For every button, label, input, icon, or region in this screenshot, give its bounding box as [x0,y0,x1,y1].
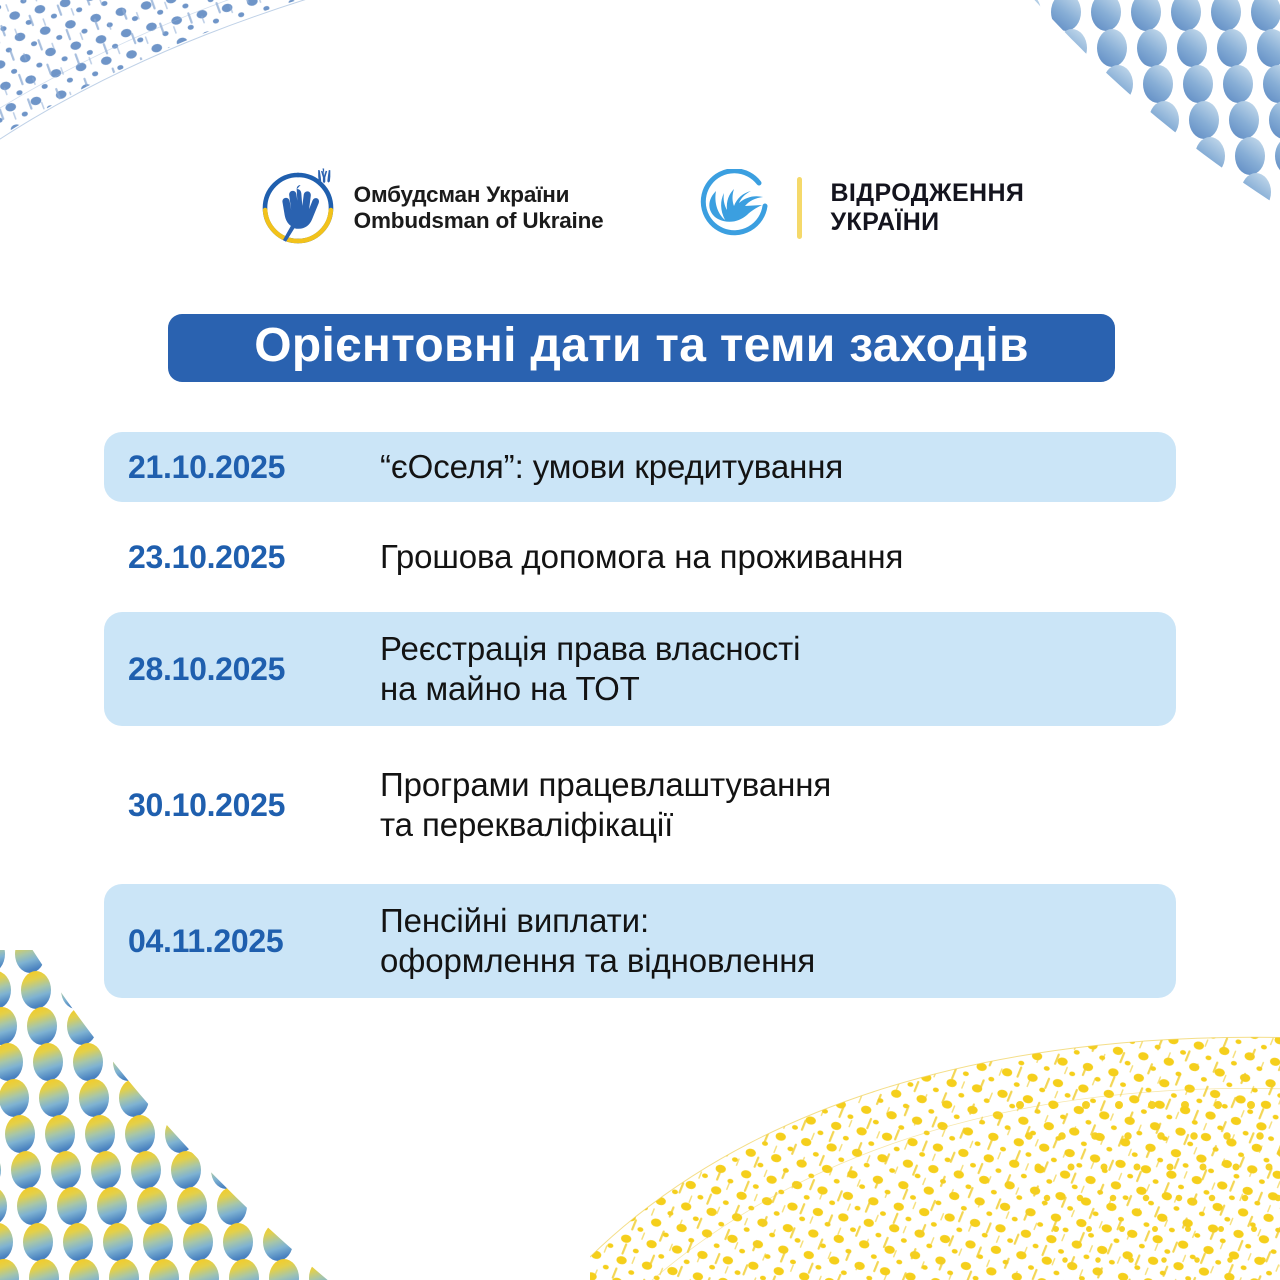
schedule-topic-4: Програми працевлаштування та перекваліфі… [380,765,1176,846]
schedule-date-5: 04.11.2025 [128,923,380,960]
schedule-date-1: 21.10.2025 [128,449,380,486]
logo-bar: Омбудсман України Ombudsman of Ukraine В… [0,160,1280,256]
row-spacer [104,862,1176,884]
schedule-topic-1: “єОселя”: умови кредитування [380,447,1176,487]
schedule-list: 21.10.2025 “єОселя”: умови кредитування … [104,432,1176,998]
ombudsman-logo-text: Омбудсман України Ombudsman of Ukraine [354,182,604,235]
row-spacer [104,726,1176,748]
schedule-row-3: 28.10.2025 Реєстрація права власності на… [104,612,1176,726]
schedule-row-4: 30.10.2025 Програми працевлаштування та … [104,748,1176,862]
page-title: Орієнтовні дати та теми заходів [254,322,1029,370]
page-title-banner: Орієнтовні дати та теми заходів [168,314,1115,382]
poster-canvas: Омбудсман України Ombudsman of Ukraine В… [0,0,1280,1280]
ombudsman-name-en: Ombudsman of Ukraine [354,208,604,234]
row-spacer [104,592,1176,612]
ombudsman-dove-circle-icon [256,166,340,250]
logo-divider [797,177,802,239]
row-spacer [104,502,1176,522]
revival-name-line1: ВІДРОДЖЕННЯ [830,179,1024,208]
schedule-row-2: 23.10.2025 Грошова допомога на проживанн… [104,522,1176,592]
phoenix-bird-circle-icon [699,169,777,247]
schedule-date-3: 28.10.2025 [128,651,380,688]
ombudsman-logo-block: Омбудсман України Ombudsman of Ukraine [256,166,604,250]
revival-logo-block: ВІДРОДЖЕННЯ УКРАЇНИ [699,169,1024,247]
schedule-topic-3: Реєстрація права власності на майно на Т… [380,629,1176,710]
revival-name-line2: УКРАЇНИ [830,208,1024,237]
ombudsman-name-uk: Омбудсман України [354,182,604,208]
schedule-date-4: 30.10.2025 [128,787,380,824]
schedule-topic-2: Грошова допомога на проживання [380,537,1176,577]
ukraine-trident-icon [318,169,330,184]
schedule-row-1: 21.10.2025 “єОселя”: умови кредитування [104,432,1176,502]
schedule-date-2: 23.10.2025 [128,539,380,576]
revival-logo-text: ВІДРОДЖЕННЯ УКРАЇНИ [830,179,1024,237]
decor-bottom-left-dot-grid [0,950,390,1280]
schedule-topic-5: Пенсійні виплати: оформлення та відновле… [380,901,1176,982]
schedule-row-5: 04.11.2025 Пенсійні виплати: оформлення … [104,884,1176,998]
decor-bottom-right-dotted-wave [590,1000,1280,1280]
